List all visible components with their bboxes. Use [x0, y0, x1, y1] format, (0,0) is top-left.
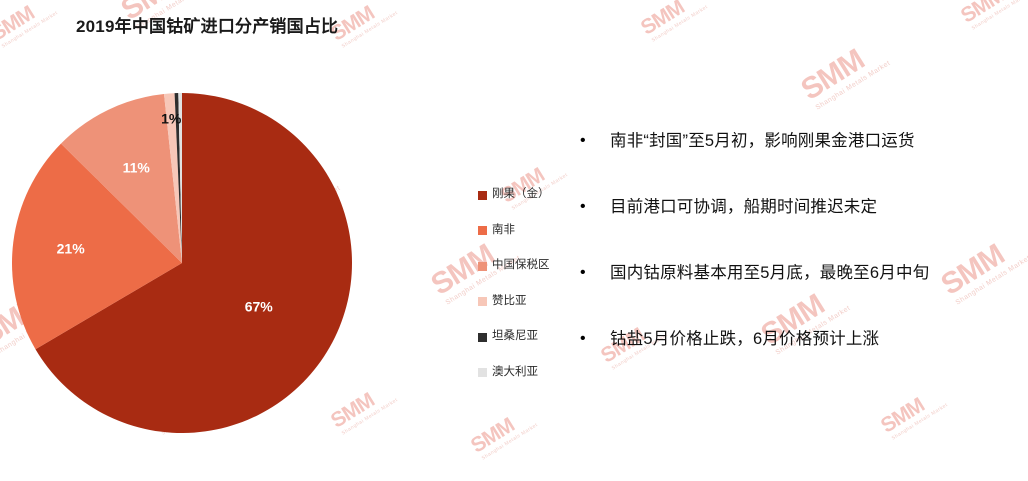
pie-slice-label: 21%	[51, 238, 91, 261]
legend-item-label: 坦桑尼亚	[492, 331, 538, 343]
legend-item[interactable]: 赞比亚	[478, 293, 573, 311]
legend-item[interactable]: 坦桑尼亚	[478, 328, 573, 346]
chart-legend: 刚果（金）南非中国保税区赞比亚坦桑尼亚澳大利亚	[478, 186, 573, 399]
bullet-marker-icon: •	[580, 128, 610, 154]
bullet-item-text: 目前港口可协调，船期时间推迟未定	[610, 194, 877, 220]
pie-slice-label: 67%	[239, 295, 279, 318]
bullet-item-text: 钴盐5月价格止跌，6月价格预计上涨	[610, 326, 879, 352]
legend-color-swatch	[478, 191, 487, 200]
watermark-smm: SMMShanghai Metals Market	[468, 404, 539, 462]
bullet-item-text: 国内钴原料基本用至5月底，最晚至6月中旬	[610, 260, 929, 286]
legend-item-label: 刚果（金）	[492, 189, 550, 201]
watermark-tagline: Shanghai Metals Market	[971, 0, 1028, 32]
watermark-logo-text: SMM	[0, 0, 55, 45]
pie-chart: 67%21%11%1%	[12, 93, 352, 433]
pie-slice-label: 1%	[155, 107, 187, 130]
bullet-item: •目前港口可协调，船期时间推迟未定	[580, 194, 1020, 220]
watermark-logo-text: SMM	[468, 404, 535, 456]
bullet-marker-icon: •	[580, 326, 610, 352]
bullet-list: •南非“封国”至5月初，影响刚果金港口运货•目前港口可协调，船期时间推迟未定•国…	[580, 128, 1020, 392]
watermark-tagline: Shanghai Metals Market	[891, 402, 949, 441]
legend-item[interactable]: 刚果（金）	[478, 186, 573, 204]
legend-item[interactable]: 澳大利亚	[478, 364, 573, 382]
watermark-tagline: Shanghai Metals Market	[481, 422, 539, 461]
bullet-item: •国内钴原料基本用至5月底，最晚至6月中旬	[580, 260, 1020, 286]
watermark-smm: SMMShanghai Metals Market	[0, 0, 59, 51]
watermark-tagline: Shanghai Metals Market	[814, 59, 891, 111]
bullet-item-text: 南非“封国”至5月初，影响刚果金港口运货	[610, 128, 915, 154]
legend-color-swatch	[478, 297, 487, 306]
watermark-logo-text: SMM	[878, 384, 945, 436]
watermark-tagline: Shanghai Metals Market	[1, 10, 59, 49]
watermark-tagline: Shanghai Metals Market	[341, 10, 399, 49]
watermark-logo-text: SMM	[958, 0, 1025, 27]
bullet-item: •南非“封国”至5月初，影响刚果金港口运货	[580, 128, 1020, 154]
legend-item[interactable]: 南非	[478, 222, 573, 240]
legend-item[interactable]: 中国保税区	[478, 257, 573, 275]
legend-color-swatch	[478, 226, 487, 235]
legend-color-swatch	[478, 368, 487, 377]
pie-chart-svg	[12, 93, 352, 433]
watermark-smm: SMMShanghai Metals Market	[328, 0, 399, 51]
legend-item-label: 南非	[492, 225, 515, 237]
bullet-marker-icon: •	[580, 260, 610, 286]
legend-color-swatch	[478, 262, 487, 271]
bullet-item: •钴盐5月价格止跌，6月价格预计上涨	[580, 326, 1020, 352]
watermark-smm: SMMShanghai Metals Market	[638, 0, 709, 45]
watermark-smm: SMMShanghai Metals Market	[797, 34, 891, 112]
legend-item-label: 中国保税区	[492, 260, 550, 272]
watermark-logo-text: SMM	[638, 0, 705, 39]
watermark-smm: SMMShanghai Metals Market	[958, 0, 1028, 33]
watermark-smm: SMMShanghai Metals Market	[878, 384, 949, 442]
pie-slice-label: 11%	[117, 157, 156, 180]
legend-item-label: 赞比亚	[492, 296, 527, 308]
legend-item-label: 澳大利亚	[492, 367, 538, 379]
watermark-tagline: Shanghai Metals Market	[651, 4, 709, 43]
bullet-marker-icon: •	[580, 194, 610, 220]
legend-color-swatch	[478, 333, 487, 342]
watermark-logo-text: SMM	[797, 34, 887, 105]
page-title: 2019年中国钴矿进口分产销国占比	[76, 12, 338, 37]
